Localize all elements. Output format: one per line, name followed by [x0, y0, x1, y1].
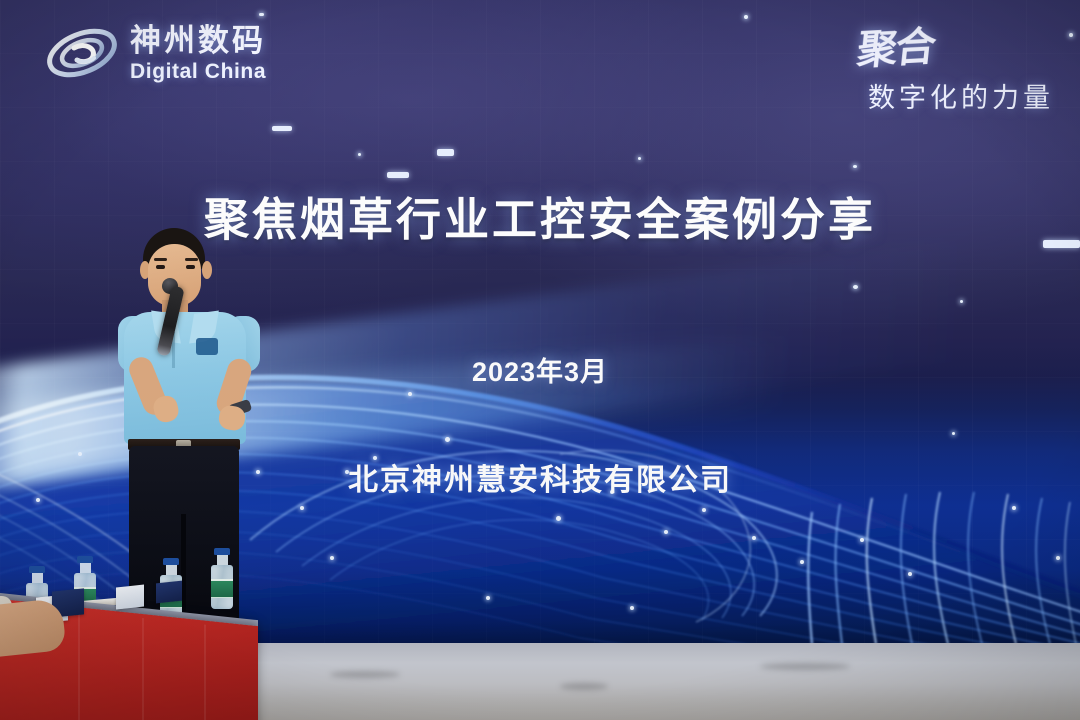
bottle-cap: [214, 548, 230, 555]
name-card-4: [156, 581, 182, 604]
brand-name-en: Digital China: [130, 61, 266, 82]
event-slogan: 数字化的力量: [868, 76, 1054, 115]
bottle-cap: [29, 566, 45, 573]
speaker-chest-logo-icon: [196, 338, 218, 355]
event-calligraphy-title: 聚合: [855, 14, 938, 76]
conference-stage-photo: 神州数码 Digital China 聚合 数字化的力量 聚焦烟草行业工控安全案…: [0, 0, 1080, 720]
bottle-neck: [80, 563, 91, 573]
bottle-cap: [163, 558, 179, 565]
digital-china-swirl-icon: [44, 22, 120, 84]
bottle-body: [211, 565, 233, 609]
speaker-eye-left: [156, 265, 165, 269]
bottle-neck: [217, 555, 228, 565]
brand-name-cn: 神州数码: [130, 25, 266, 56]
bottle-label: [211, 579, 233, 598]
brand-logo-right: 聚合 数字化的力量: [858, 16, 1054, 115]
water-bottle-4: [211, 548, 233, 609]
speaker-brow-left: [154, 258, 167, 261]
bottle-neck: [32, 573, 43, 583]
speaker-eye-right: [186, 265, 195, 269]
speaker-ear-right: [202, 261, 212, 279]
bottle-neck: [166, 565, 177, 575]
speaker-brow-right: [185, 258, 198, 261]
name-card-3: [116, 585, 144, 610]
brand-logo-left: 神州数码 Digital China: [44, 22, 266, 84]
speaker-figure: [96, 228, 286, 620]
bottle-cap: [77, 556, 93, 563]
